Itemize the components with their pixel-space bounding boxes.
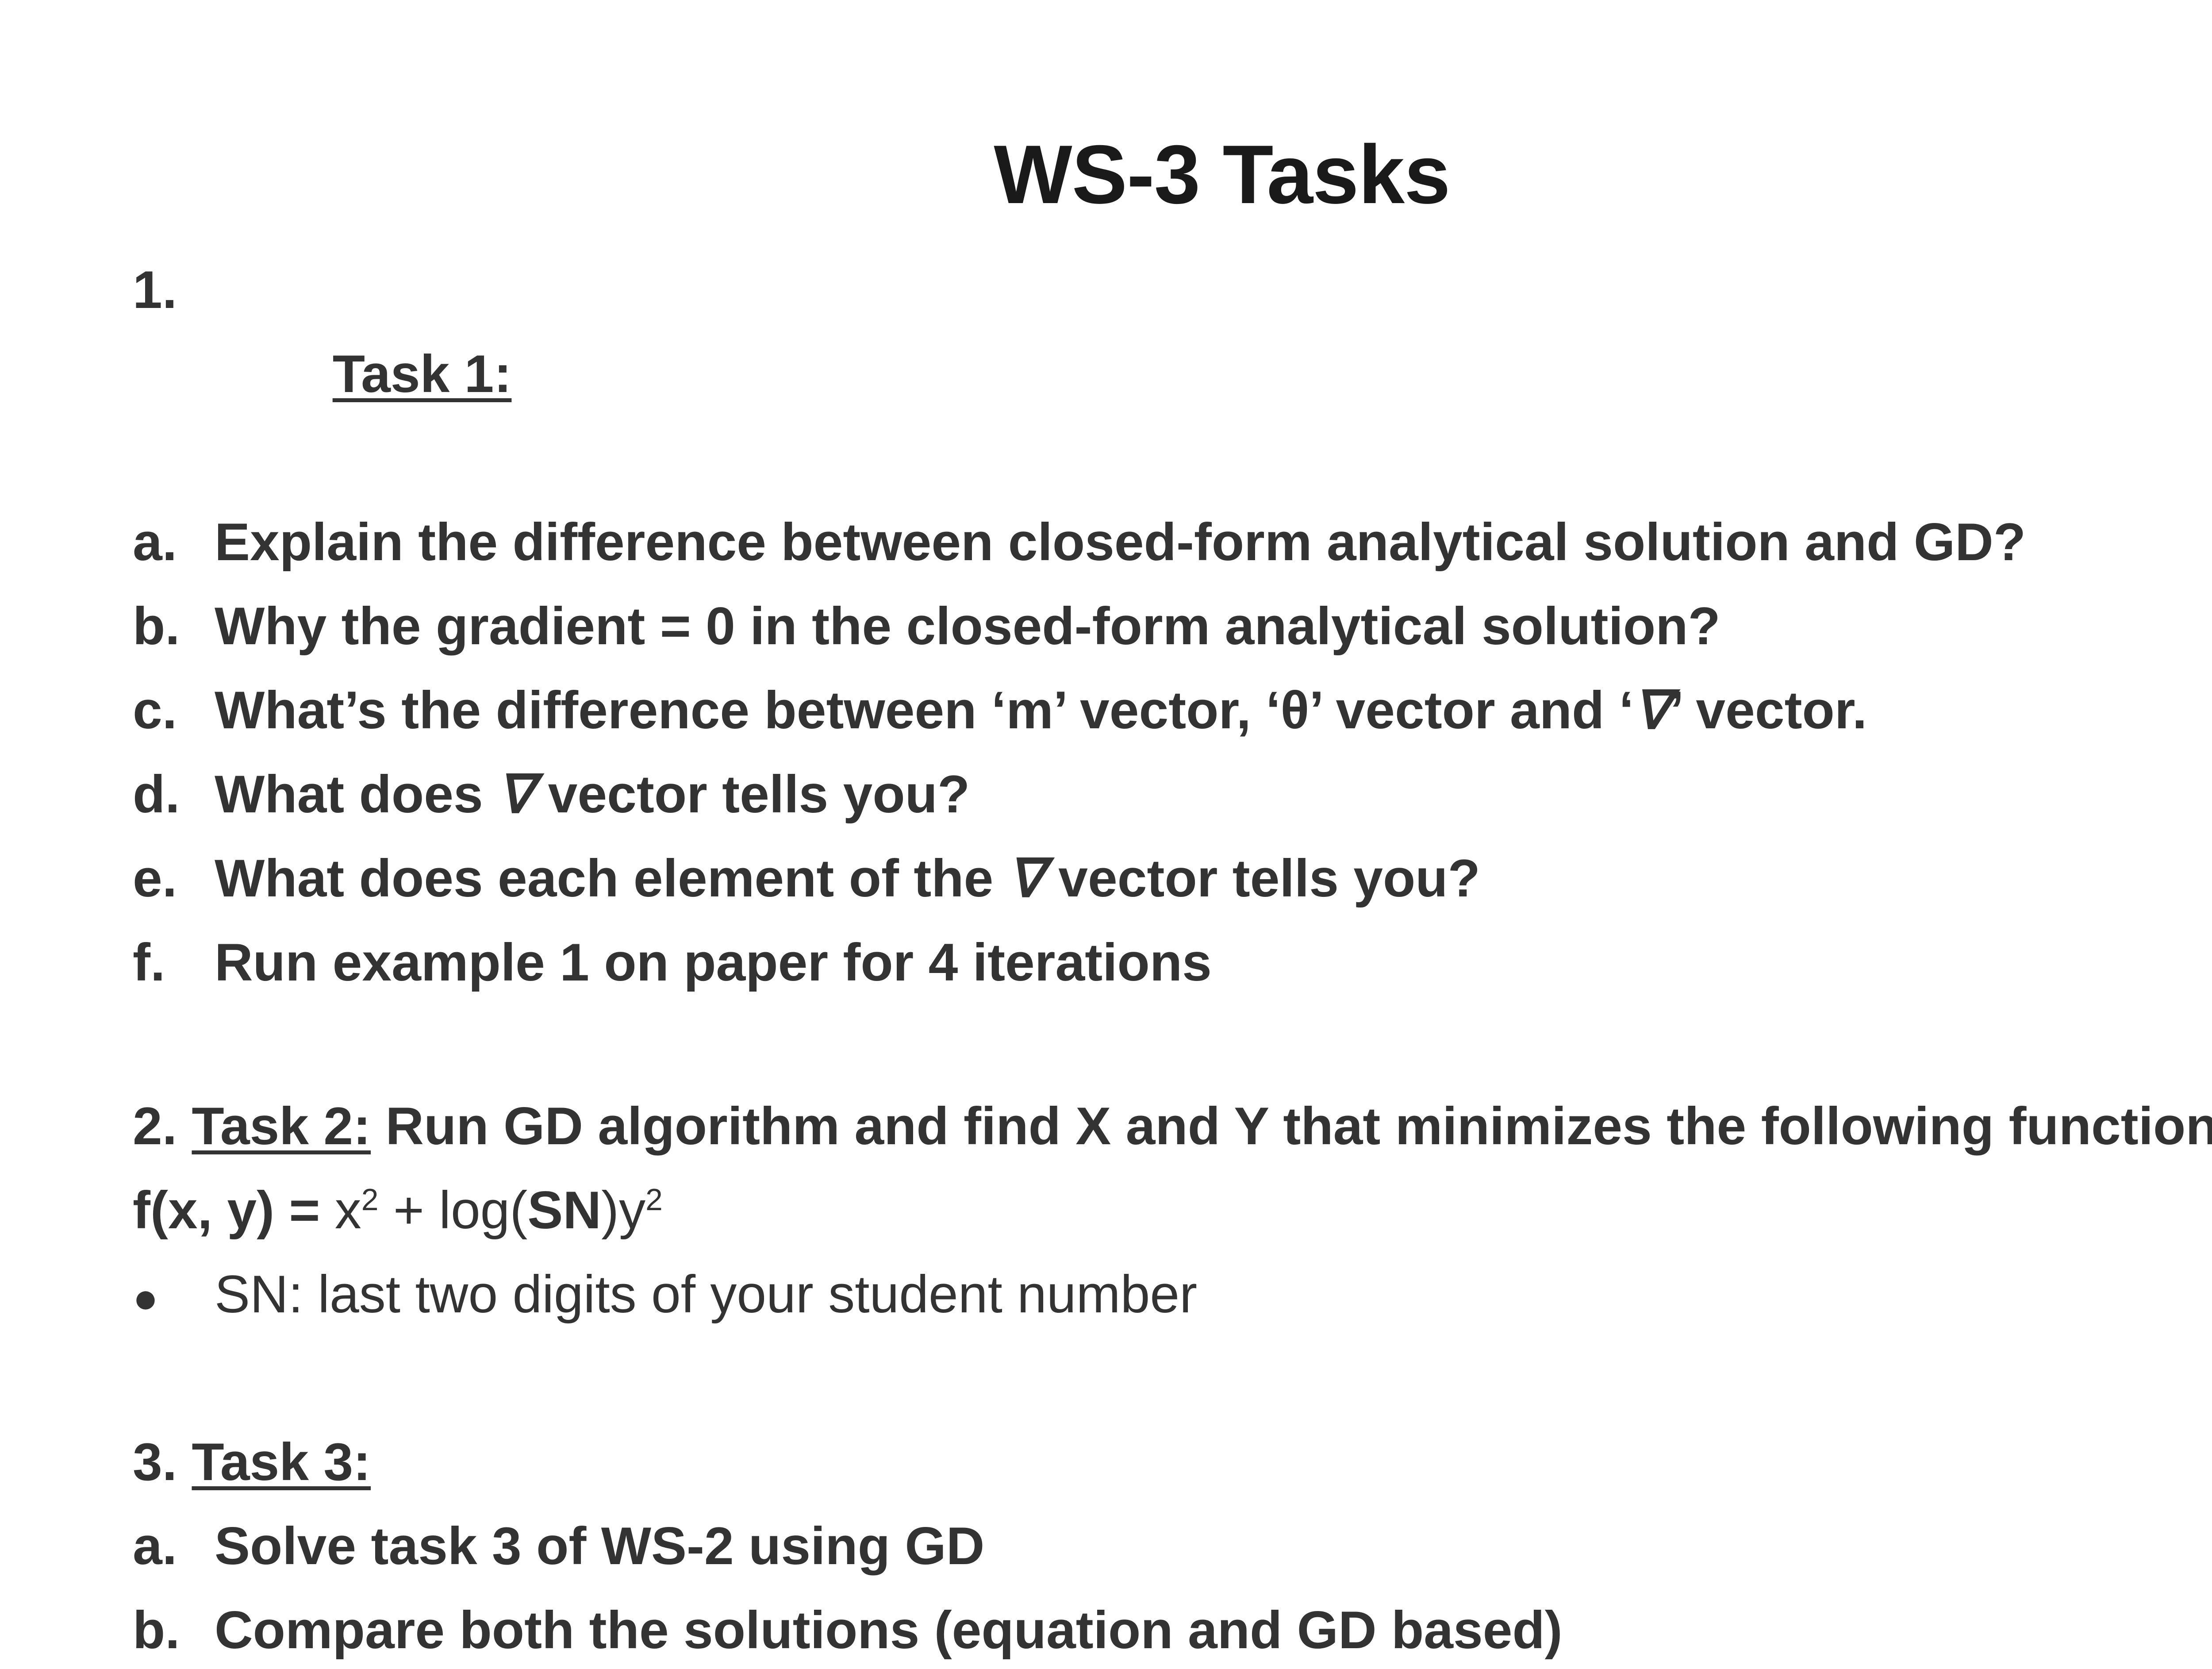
- task3-marker-space: [177, 1420, 192, 1504]
- task1-item-c-text: What’s the difference between ‘m’ vector…: [215, 668, 2212, 752]
- nabla-icon: ∇: [498, 765, 533, 824]
- page-title: WS-3 Tasks: [0, 133, 2212, 216]
- task3-item-b-marker: b.: [133, 1588, 215, 1669]
- task1-heading-label: Task 1:: [333, 344, 512, 404]
- formula-log-close: ): [601, 1181, 619, 1240]
- task1-item-e-marker: e.: [133, 836, 215, 920]
- task1-item-f-marker: f.: [133, 920, 215, 1004]
- task2-marker: 2.: [133, 1096, 177, 1156]
- task3-item-b-text: Compare both the solutions (equation and…: [215, 1588, 2212, 1669]
- task2-bullet-text: SN: last two digits of your student numb…: [215, 1252, 2212, 1336]
- task1-item-e-text-post: vector tells you?: [1044, 849, 1480, 908]
- task1-item-c-text-pre: What’s the difference between ‘m’ vector…: [215, 681, 1634, 740]
- task3-marker: 3.: [133, 1420, 177, 1504]
- slide-body: 1. Task 1: a. Explain the difference bet…: [133, 248, 2212, 1669]
- task1-item-f: f. Run example 1 on paper for 4 iteratio…: [133, 920, 2212, 1004]
- formula-term2-exponent: 2: [645, 1182, 663, 1217]
- task1-item-a-text: Explain the difference between closed-fo…: [215, 500, 2212, 584]
- task3-heading-row: 3. Task 3:: [133, 1420, 2212, 1504]
- nabla-icon: ∇: [1008, 849, 1044, 908]
- section-gap-2: [133, 1340, 2212, 1420]
- bullet-icon: ●: [133, 1256, 215, 1340]
- formula-sn-token: SN: [527, 1181, 601, 1240]
- task1-item-b-marker: b.: [133, 584, 215, 668]
- task1-item-e: e. What does each element of the ∇ vecto…: [133, 836, 2212, 920]
- task1-item-d: d. What does ∇ vector tells you?: [133, 752, 2212, 836]
- task1-item-c-text-post: ’ vector.: [1669, 681, 1867, 740]
- formula-operator: +: [379, 1181, 439, 1240]
- task1-item-f-text: Run example 1 on paper for 4 iterations: [215, 920, 2212, 1004]
- task3-item-b: b. Compare both the solutions (equation …: [133, 1588, 2212, 1669]
- task1-item-b: b. Why the gradient = 0 in the closed-fo…: [133, 584, 2212, 668]
- task2-description: Run GD algorithm and find X and Y that m…: [371, 1096, 2212, 1156]
- task1-item-a-marker: a.: [133, 500, 215, 584]
- task1-item-b-text: Why the gradient = 0 in the closed-form …: [215, 584, 2212, 668]
- task2-heading-label: Task 2:: [192, 1096, 371, 1156]
- task1-heading-row: 1. Task 1:: [133, 248, 2212, 500]
- task3-item-a-text: Solve task 3 of WS-2 using GD: [215, 1504, 2212, 1588]
- formula-log-open: log(: [439, 1181, 527, 1240]
- task1-item-c: c. What’s the difference between ‘m’ vec…: [133, 668, 2212, 752]
- task1-item-e-text: What does each element of the ∇ vector t…: [215, 836, 2212, 920]
- task3-item-a: a. Solve task 3 of WS-2 using GD: [133, 1504, 2212, 1588]
- task1-marker: 1.: [133, 248, 215, 332]
- section-gap-1: [133, 1004, 2212, 1084]
- task1-item-c-marker: c.: [133, 668, 215, 752]
- task2-paragraph: 2. Task 2: Run GD algorithm and find X a…: [133, 1084, 2212, 1168]
- task3-item-a-marker: a.: [133, 1504, 215, 1588]
- task3-heading-label: Task 3:: [192, 1420, 371, 1504]
- task2-formula: f(x, y) = x2 + log(SN)y2: [133, 1168, 2212, 1252]
- nabla-icon: ∇: [1634, 681, 1669, 740]
- task1-item-a: a. Explain the difference between closed…: [133, 500, 2212, 584]
- task1-item-d-text-pre: What does: [215, 765, 498, 824]
- formula-term1-exponent: 2: [361, 1182, 379, 1217]
- task1-item-d-text-post: vector tells you?: [533, 765, 970, 824]
- task1-item-d-text: What does ∇ vector tells you?: [215, 752, 2212, 836]
- formula-term2-base: y: [619, 1181, 645, 1240]
- slide-canvas: WS-3 Tasks 1. Task 1: a. Explain the dif…: [0, 0, 2212, 1669]
- formula-term1-base: x: [335, 1181, 361, 1240]
- task2-bullet-row: ● SN: last two digits of your student nu…: [133, 1252, 2212, 1340]
- task2-marker-space: [177, 1096, 192, 1156]
- task1-item-d-marker: d.: [133, 752, 215, 836]
- formula-lhs: f(x, y) =: [133, 1181, 335, 1240]
- task1-item-e-text-pre: What does each element of the: [215, 849, 1008, 908]
